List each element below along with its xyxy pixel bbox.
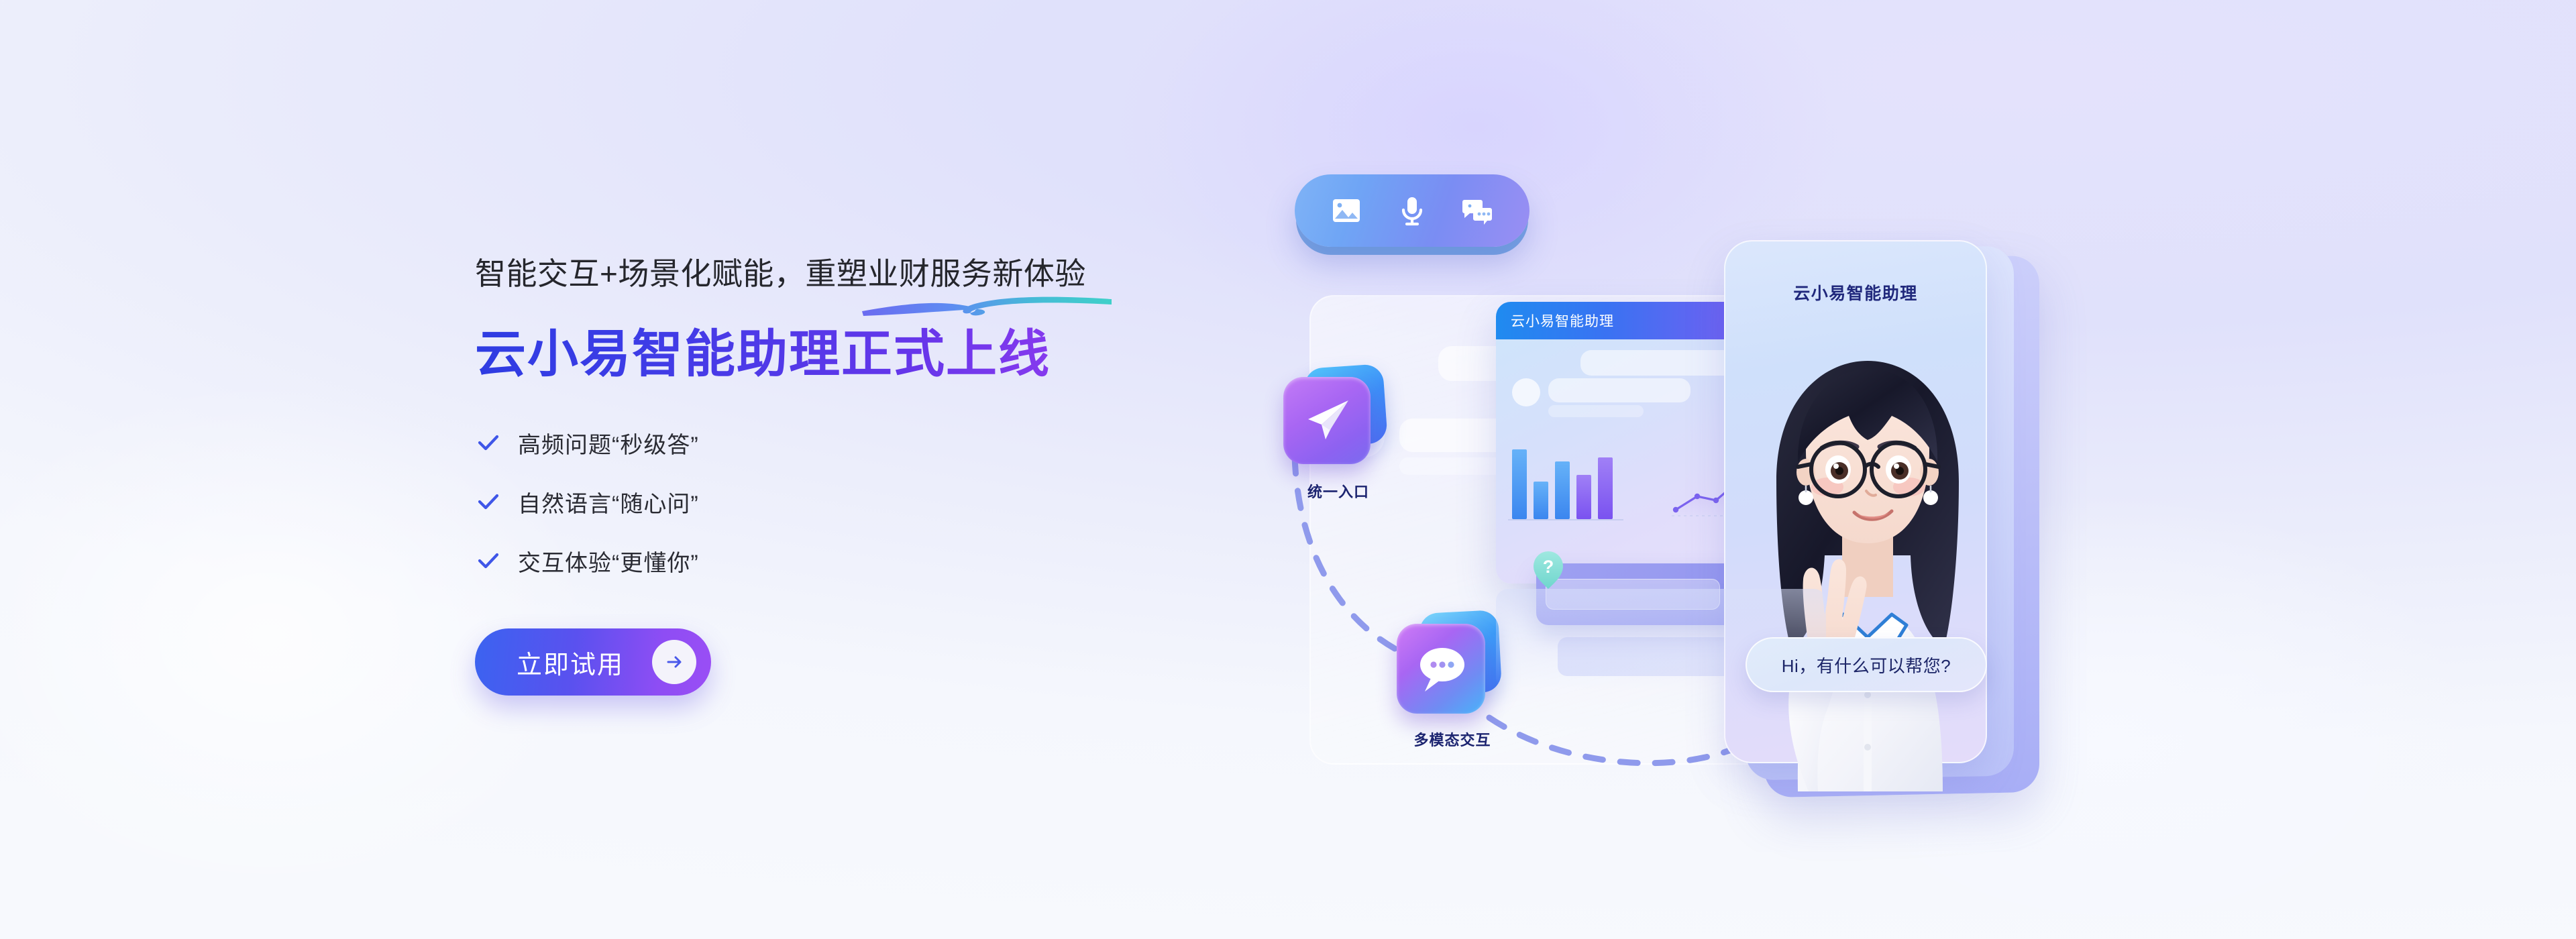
page-title: 云小易智能助理正式上线 (475, 325, 1226, 385)
greeting-bubble: Hi，有什么可以帮您? (1746, 637, 1987, 692)
hero-subheadline: 智能交互+场景化赋能，重塑业财服务新体验 (475, 255, 1086, 294)
placeholder-bar (1548, 405, 1644, 417)
unified-entry-node[interactable]: 统一入口 (1278, 362, 1399, 516)
placeholder-bar (1548, 378, 1690, 402)
multimodal-caption: 多模态交互 (1389, 728, 1516, 750)
hero-illustration: 统一入口 多模态交互 云小易智能助理 (1295, 168, 2301, 879)
hero-subheadline-text: 智能交互+场景化赋能，重塑业财服务新体验 (475, 256, 1086, 291)
list-item: 高频问题“秒级答” (475, 422, 1226, 463)
arrow-right-icon (652, 640, 696, 684)
paper-plane-icon (1296, 390, 1358, 451)
feature-list: 高频问题“秒级答” 自然语言“随心问” 交互体验“更懂你” (475, 422, 1226, 582)
check-icon (475, 488, 502, 515)
chat-bubbles-icon[interactable] (1459, 192, 1497, 229)
help-badge-icon[interactable]: ? (1531, 550, 1566, 590)
bar-chart (1508, 449, 1623, 520)
list-item: 自然语言“随心问” (475, 481, 1226, 522)
unified-entry-caption: 统一入口 (1278, 480, 1399, 502)
svg-text:?: ? (1543, 557, 1554, 577)
greeting-text: Hi，有什么可以帮您? (1782, 653, 1951, 677)
feature-label: 高频问题“秒级答” (518, 427, 699, 459)
microphone-icon[interactable] (1393, 192, 1431, 229)
assistant-avatar (1690, 322, 2039, 791)
brush-underline-icon (859, 294, 1114, 317)
placeholder-avatar (1512, 378, 1540, 406)
feature-label: 交互体验“更懂你” (518, 545, 699, 577)
try-now-button-label: 立即试用 (517, 644, 624, 681)
assistant-card-title: 云小易智能助理 (1725, 280, 1986, 305)
speech-bubble-icon (1409, 637, 1473, 701)
list-item: 交互体验“更懂你” (475, 540, 1226, 582)
modality-toolbar[interactable] (1295, 174, 1529, 247)
check-icon (475, 429, 502, 456)
image-icon[interactable] (1328, 192, 1365, 229)
try-now-button[interactable]: 立即试用 (475, 628, 711, 696)
window-title: 云小易智能助理 (1511, 311, 1614, 331)
check-icon (475, 547, 502, 574)
hero-copy: 智能交互+场景化赋能，重塑业财服务新体验 云小易智能助理正式上线 高频问题“秒级… (475, 255, 1226, 696)
feature-label: 自然语言“随心问” (518, 486, 699, 518)
tile-foreground (1397, 624, 1485, 714)
tile-foreground (1283, 377, 1371, 464)
